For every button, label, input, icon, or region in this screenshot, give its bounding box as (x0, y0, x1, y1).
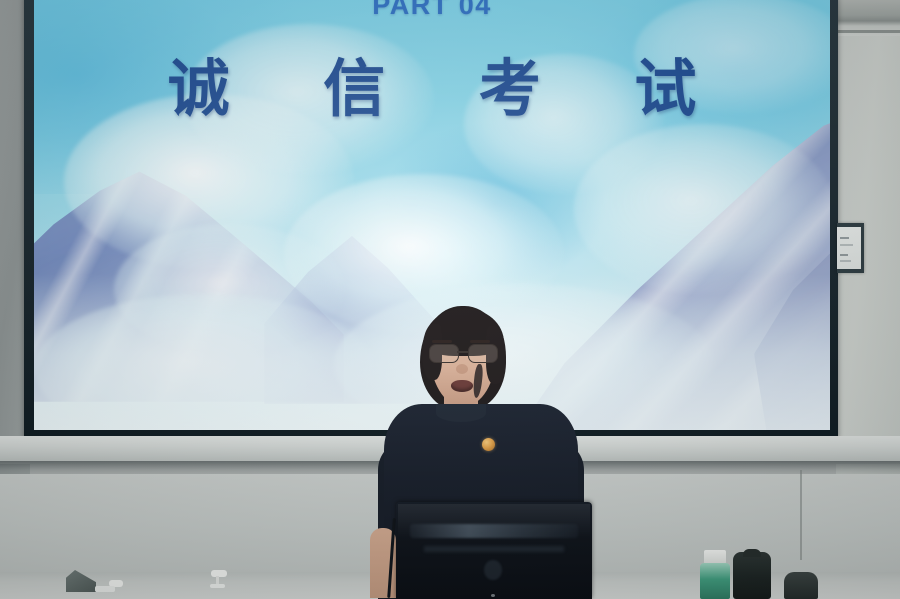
monitor-power-led (491, 594, 495, 597)
desk-microphone-left[interactable] (95, 578, 123, 592)
glasses-bridge (457, 351, 468, 353)
notice-text-line (840, 244, 853, 246)
glasses (428, 344, 498, 362)
notice-text-line (840, 254, 848, 256)
wall-cable (800, 470, 802, 560)
bag-strap (743, 549, 761, 557)
lapel-badge-pin (482, 438, 495, 451)
monitor-glare-secondary (424, 546, 564, 552)
mouth (451, 380, 473, 392)
classroom-scene: PART 04 诚 信 考 试 (0, 0, 900, 599)
water-bottle[interactable] (700, 550, 730, 599)
desk-microphone-right[interactable] (205, 570, 229, 588)
wall-notice-card (837, 223, 864, 273)
slide-title: 诚 信 考 试 (34, 38, 830, 128)
microphone-base (210, 584, 225, 588)
dark-case[interactable] (784, 572, 818, 599)
glasses-lens-left (429, 344, 459, 363)
notice-text-line (840, 237, 849, 239)
monitor-glare (410, 524, 578, 538)
eyebrow-left (432, 340, 452, 343)
bottle-body (700, 563, 730, 599)
bottle-cap (704, 550, 726, 564)
camera-bag[interactable] (733, 552, 771, 599)
slide-part-label: PART 04 (34, 0, 830, 21)
shirt-collar (436, 404, 486, 422)
eyebrow-right (470, 340, 490, 343)
monitor-logo (484, 560, 502, 580)
microphone-head (211, 570, 227, 577)
cloud (574, 124, 830, 294)
notice-paper (837, 227, 861, 269)
notice-text-line (840, 260, 851, 262)
computer-monitor[interactable] (396, 502, 592, 599)
nose (456, 364, 468, 374)
microphone-base (95, 586, 115, 592)
glasses-lens-right (468, 344, 498, 363)
ceiling-trim-line (836, 30, 900, 33)
